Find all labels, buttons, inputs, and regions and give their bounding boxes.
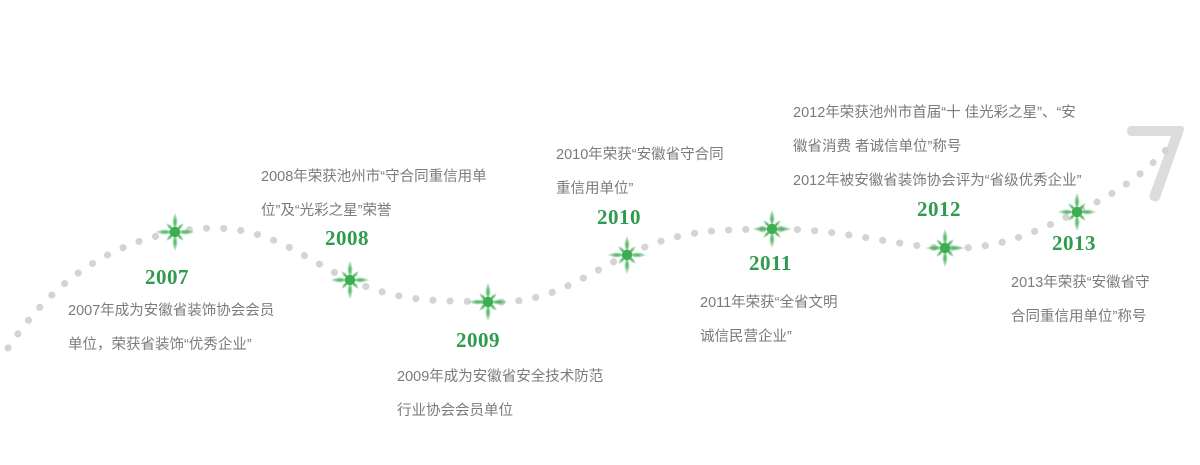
- year-label-2009: 2009: [456, 330, 500, 351]
- star-burst-icon: [466, 280, 510, 324]
- description-line: 单位，荣获省装饰“优秀企业”: [68, 328, 274, 362]
- year-label-2010: 2010: [597, 207, 641, 228]
- year-label-2011: 2011: [749, 253, 792, 274]
- year-label-2013: 2013: [1052, 233, 1096, 254]
- star-burst-icon: [750, 207, 794, 251]
- star-burst-icon: [923, 226, 967, 270]
- star-burst-icon: [153, 210, 197, 254]
- description-line: 2012年被安徽省装饰协会评为“省级优秀企业”: [793, 164, 1081, 198]
- milestone-description-2013: 2013年荣获“安徽省守合同重信用单位”称号: [1011, 266, 1150, 334]
- description-line: 重信用单位”: [556, 172, 724, 206]
- description-line: 2013年荣获“安徽省守: [1011, 266, 1150, 300]
- timeline-infographic: 20072007年成为安徽省装饰协会会员单位，荣获省装饰“优秀企业”200820…: [0, 0, 1200, 465]
- milestone-description-2009: 2009年成为安徽省安全技术防范行业协会会员单位: [397, 360, 603, 428]
- milestone-description-2008: 2008年荣获池州市“守合同重信用单位”及“光彩之星”荣誉: [261, 160, 487, 228]
- description-line: 行业协会会员单位: [397, 394, 603, 428]
- description-line: 2011年荣获“全省文明: [700, 286, 838, 320]
- description-line: 2012年荣获池州市首届“十 佳光彩之星”、“安: [793, 96, 1081, 130]
- description-line: 2007年成为安徽省装饰协会会员: [68, 294, 274, 328]
- year-label-2012: 2012: [917, 199, 961, 220]
- milestone-description-2010: 2010年荣获“安徽省守合同重信用单位”: [556, 138, 724, 206]
- star-burst-icon: [605, 233, 649, 277]
- description-line: 位”及“光彩之星”荣誉: [261, 194, 487, 228]
- milestone-description-2007: 2007年成为安徽省装饰协会会员单位，荣获省装饰“优秀企业”: [68, 294, 274, 362]
- milestone-description-2011: 2011年荣获“全省文明诚信民营企业”: [700, 286, 838, 354]
- description-line: 2008年荣获池州市“守合同重信用单: [261, 160, 487, 194]
- year-label-2008: 2008: [325, 228, 369, 249]
- description-line: 徽省消费 者诚信单位”称号: [793, 130, 1081, 164]
- arrow-seven-shape-icon: [1126, 118, 1190, 204]
- year-label-2007: 2007: [145, 267, 189, 288]
- star-burst-icon: [1055, 190, 1099, 234]
- description-line: 2010年荣获“安徽省守合同: [556, 138, 724, 172]
- description-line: 合同重信用单位”称号: [1011, 300, 1150, 334]
- description-line: 2009年成为安徽省安全技术防范: [397, 360, 603, 394]
- description-line: 诚信民营企业”: [700, 320, 838, 354]
- star-burst-icon: [328, 258, 372, 302]
- milestone-description-2012: 2012年荣获池州市首届“十 佳光彩之星”、“安徽省消费 者诚信单位”称号201…: [793, 96, 1081, 198]
